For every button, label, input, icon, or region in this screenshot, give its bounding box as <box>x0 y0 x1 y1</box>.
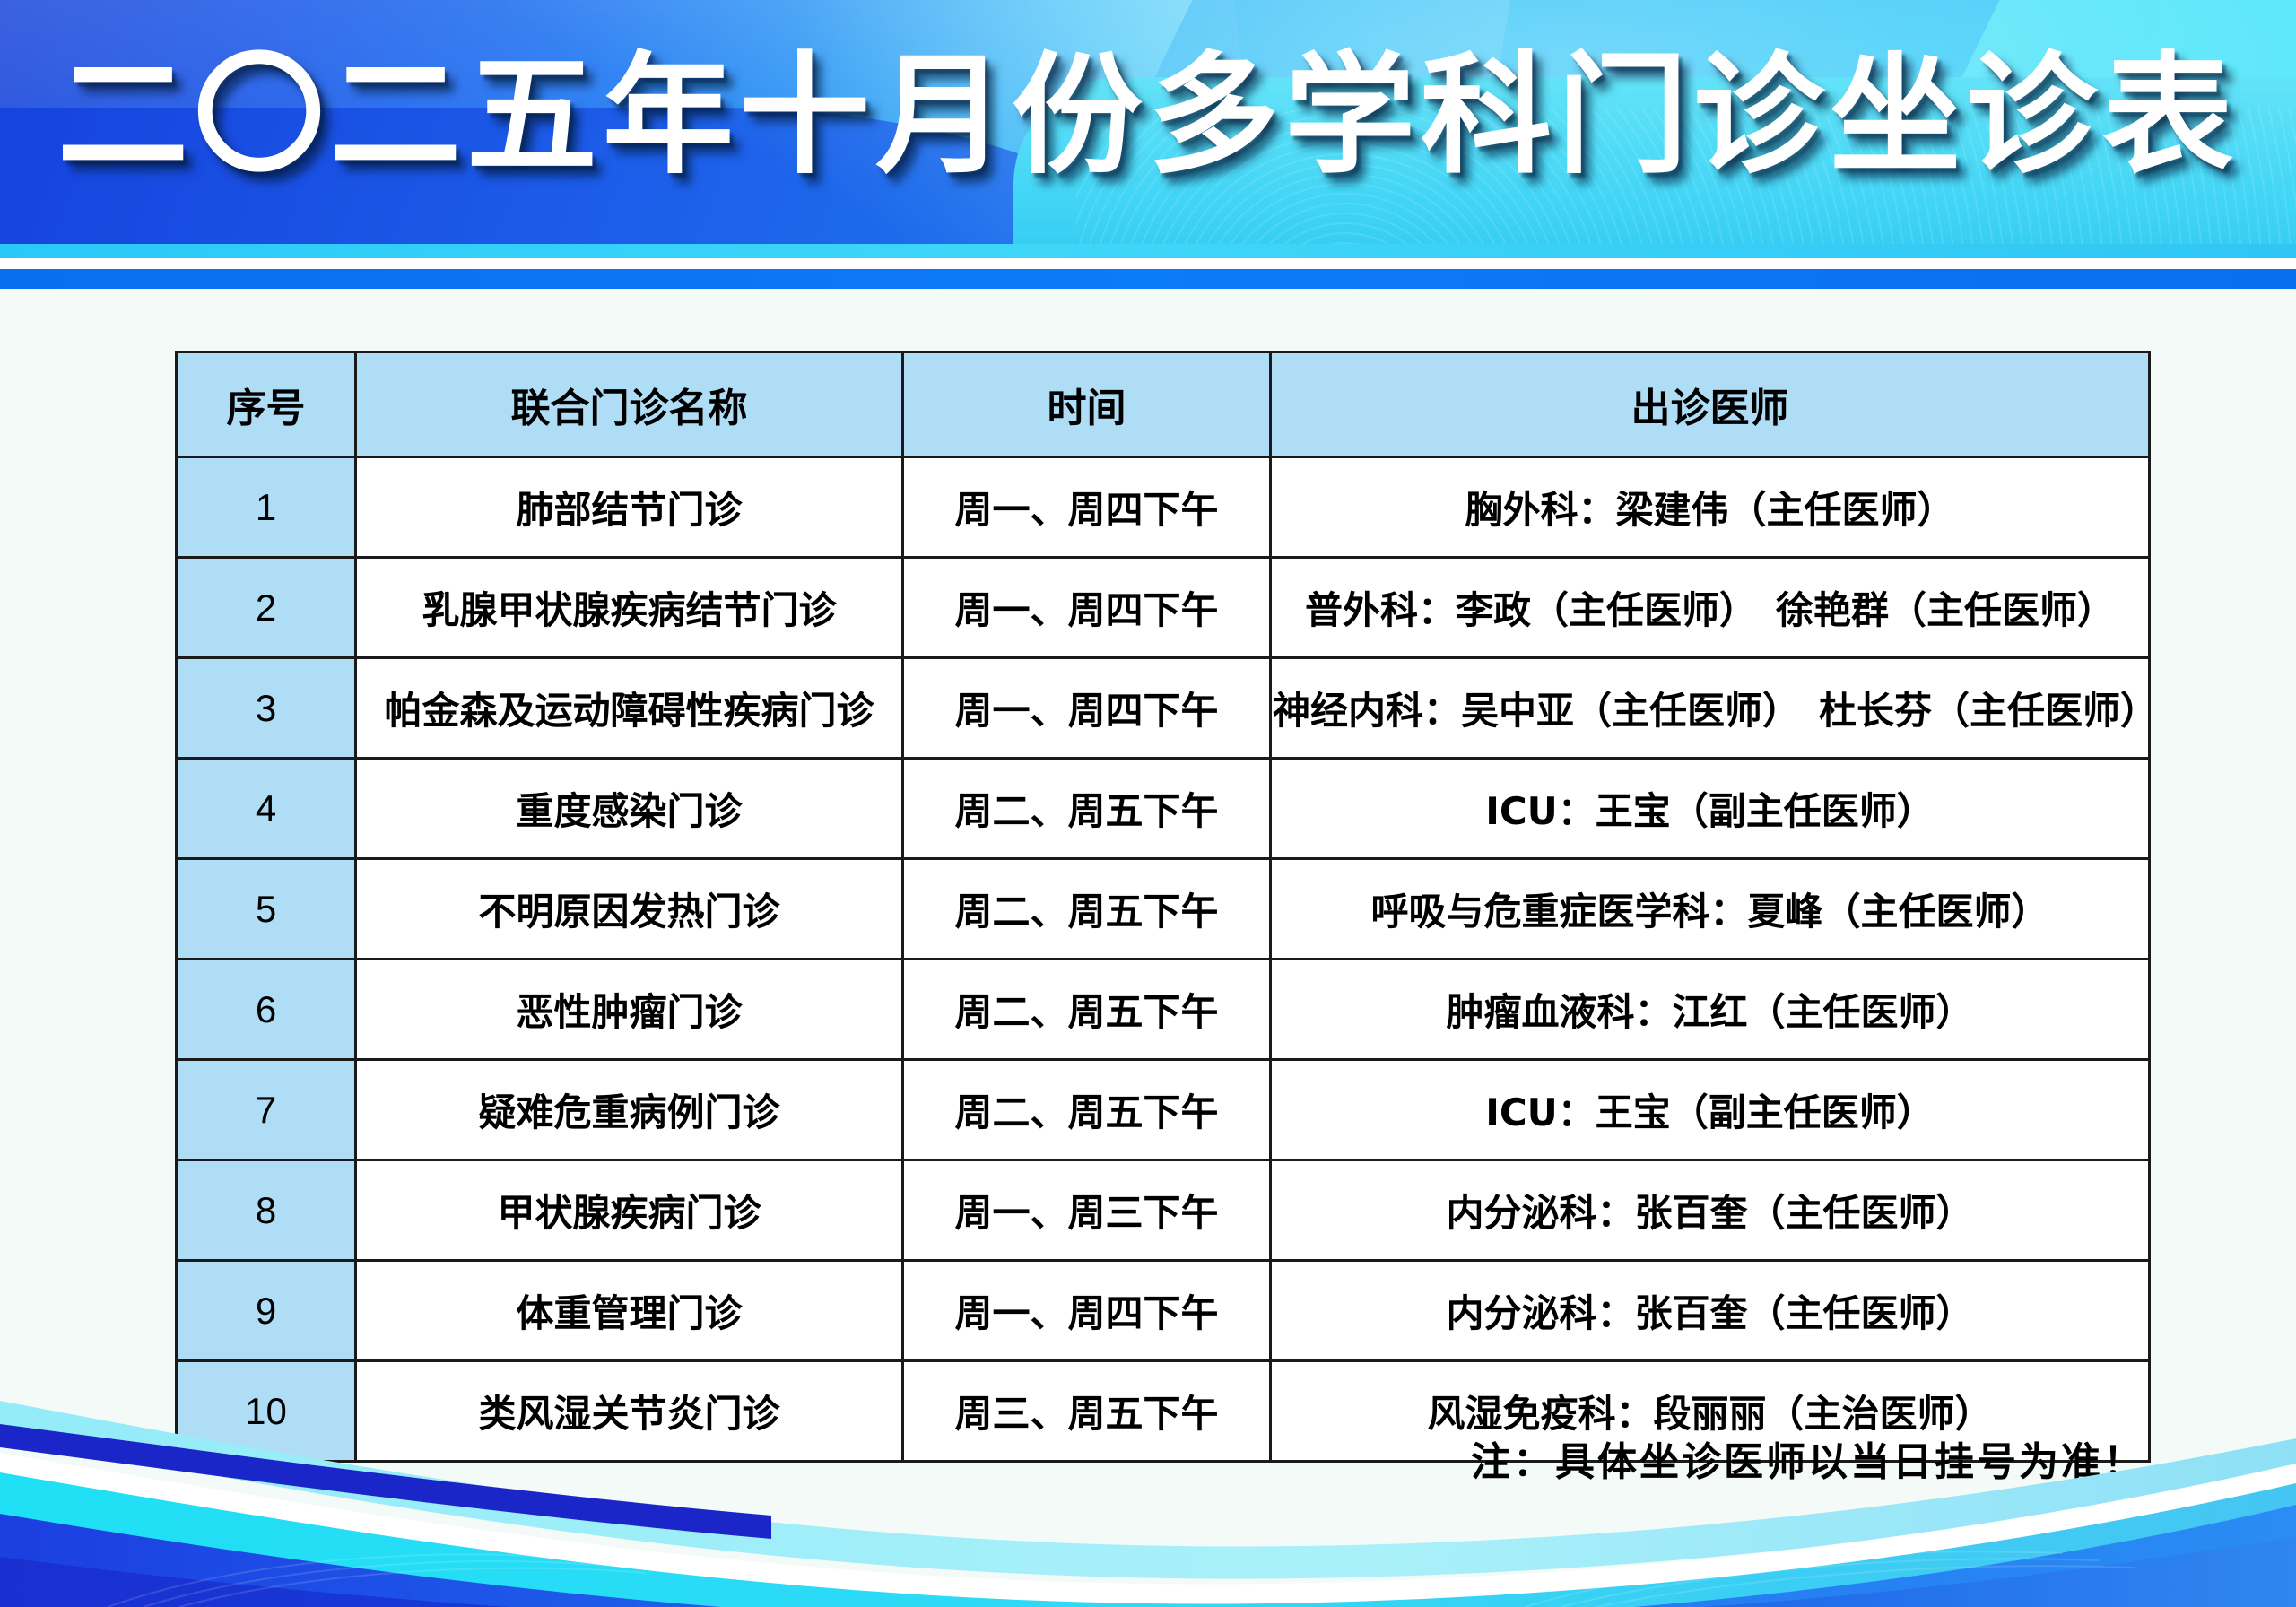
schedule-table-container: 序号 联合门诊名称 时间 出诊医师 1 肺部结节门诊 周一、周四下午 胸外科：梁… <box>175 351 2148 1463</box>
wave-deep <box>0 1537 2296 1607</box>
cell-time: 周二、周五下午 <box>903 759 1271 859</box>
table-header-row: 序号 联合门诊名称 时间 出诊医师 <box>177 352 2150 457</box>
cell-time: 周二、周五下午 <box>903 1060 1271 1160</box>
cell-clinic: 类风湿关节炎门诊 <box>356 1361 903 1462</box>
cell-clinic: 重度感染门诊 <box>356 759 903 859</box>
cell-time: 周二、周五下午 <box>903 859 1271 960</box>
table-row: 8 甲状腺疾病门诊 周一、周三下午 内分泌科：张百奎（主任医师） <box>177 1160 2150 1261</box>
cell-index: 4 <box>177 759 356 859</box>
cell-time: 周二、周五下午 <box>903 960 1271 1060</box>
cell-clinic: 乳腺甲状腺疾病结节门诊 <box>356 558 903 658</box>
column-header-index: 序号 <box>177 352 356 457</box>
cell-index: 7 <box>177 1060 356 1160</box>
cell-clinic: 肺部结节门诊 <box>356 457 903 558</box>
cell-clinic: 体重管理门诊 <box>356 1261 903 1361</box>
cell-clinic: 不明原因发热门诊 <box>356 859 903 960</box>
table-row: 1 肺部结节门诊 周一、周四下午 胸外科：梁建伟（主任医师） <box>177 457 2150 558</box>
cell-time: 周一、周四下午 <box>903 1261 1271 1361</box>
table-row: 3 帕金森及运动障碍性疾病门诊 周一、周四下午 神经内科：吴中亚（主任医师） 杜… <box>177 658 2150 759</box>
table-row: 4 重度感染门诊 周二、周五下午 ICU：王宝（副主任医师） <box>177 759 2150 859</box>
banner-stripe-cyan <box>0 244 2296 258</box>
page-title: 二〇二五年十月份多学科门诊坐诊表 <box>0 50 2296 181</box>
cell-clinic: 恶性肿瘤门诊 <box>356 960 903 1060</box>
table-row: 7 疑难危重病例门诊 周二、周五下午 ICU：王宝（副主任医师） <box>177 1060 2150 1160</box>
table-row: 2 乳腺甲状腺疾病结节门诊 周一、周四下午 普外科：李政（主任医师） 徐艳群（主… <box>177 558 2150 658</box>
cell-clinic: 疑难危重病例门诊 <box>356 1060 903 1160</box>
cell-doctors: 胸外科：梁建伟（主任医师） <box>1271 457 2150 558</box>
cell-doctors: 神经内科：吴中亚（主任医师） 杜长芬（主任医师） <box>1271 658 2150 759</box>
cell-index: 1 <box>177 457 356 558</box>
cell-index: 8 <box>177 1160 356 1261</box>
table-row: 5 不明原因发热门诊 周二、周五下午 呼吸与危重症医学科：夏峰（主任医师） <box>177 859 2150 960</box>
cell-time: 周三、周五下午 <box>903 1361 1271 1462</box>
cell-index: 5 <box>177 859 356 960</box>
cell-index: 9 <box>177 1261 356 1361</box>
cell-clinic: 帕金森及运动障碍性疾病门诊 <box>356 658 903 759</box>
cell-doctors: ICU：王宝（副主任医师） <box>1271 759 2150 859</box>
footer-note: 注：具体坐诊医师以当日挂号为准！ <box>1471 1429 2145 1487</box>
cell-time: 周一、周四下午 <box>903 558 1271 658</box>
column-header-doctors: 出诊医师 <box>1271 352 2150 457</box>
cell-time: 周一、周四下午 <box>903 658 1271 759</box>
cell-index: 2 <box>177 558 356 658</box>
cell-time: 周一、周四下午 <box>903 457 1271 558</box>
cell-doctors: 普外科：李政（主任医师） 徐艳群（主任医师） <box>1271 558 2150 658</box>
column-header-time: 时间 <box>903 352 1271 457</box>
column-header-clinic: 联合门诊名称 <box>356 352 903 457</box>
banner-stripe-white <box>0 258 2296 269</box>
cell-index: 10 <box>177 1361 356 1462</box>
cell-doctors: 内分泌科：张百奎（主任医师） <box>1271 1160 2150 1261</box>
cell-index: 6 <box>177 960 356 1060</box>
cell-index: 3 <box>177 658 356 759</box>
table-row: 6 恶性肿瘤门诊 周二、周五下午 肿瘤血液科：江红（主任医师） <box>177 960 2150 1060</box>
table-row: 9 体重管理门诊 周一、周四下午 内分泌科：张百奎（主任医师） <box>177 1261 2150 1361</box>
cell-time: 周一、周三下午 <box>903 1160 1271 1261</box>
wave-blue-body <box>0 1505 2296 1607</box>
schedule-table: 序号 联合门诊名称 时间 出诊医师 1 肺部结节门诊 周一、周四下午 胸外科：梁… <box>175 351 2151 1463</box>
banner-stripe-blue <box>0 269 2296 289</box>
cell-clinic: 甲状腺疾病门诊 <box>356 1160 903 1261</box>
cell-doctors: 内分泌科：张百奎（主任医师） <box>1271 1261 2150 1361</box>
cell-doctors: 肿瘤血液科：江红（主任医师） <box>1271 960 2150 1060</box>
cell-doctors: 呼吸与危重症医学科：夏峰（主任医师） <box>1271 859 2150 960</box>
wave-ripple-texture <box>108 1551 2135 1607</box>
cell-doctors: ICU：王宝（副主任医师） <box>1271 1060 2150 1160</box>
